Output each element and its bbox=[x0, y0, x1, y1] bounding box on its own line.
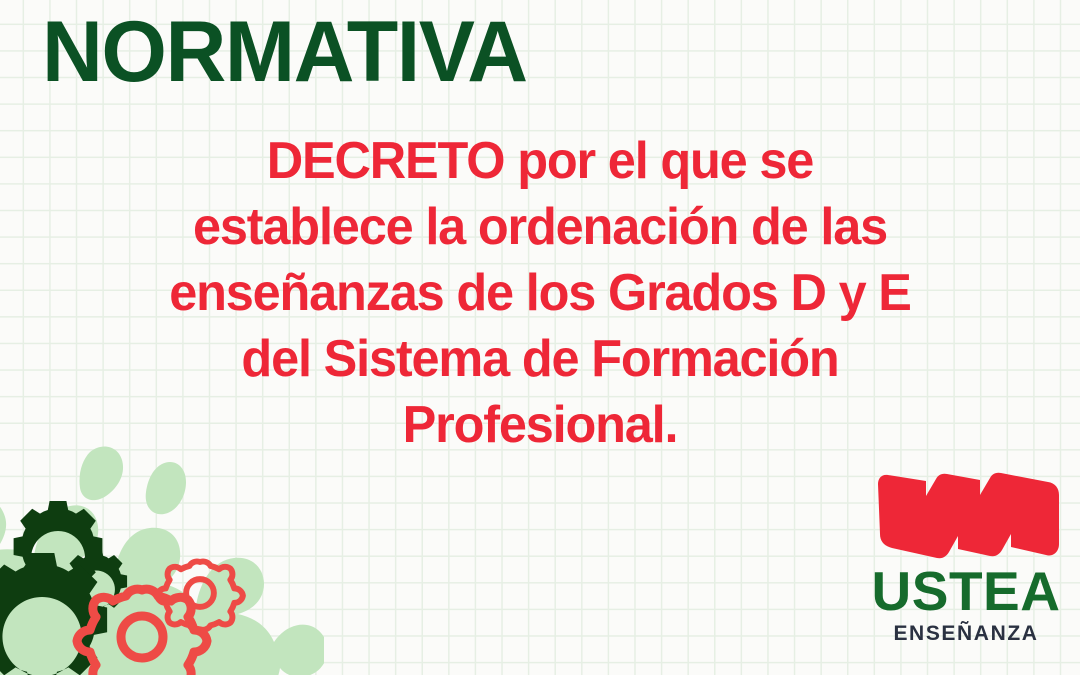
page-title: NORMATIVA bbox=[42, 2, 527, 102]
lightning-flag-icon bbox=[868, 470, 1064, 562]
body-line-3: enseñanzas de los Grados D y E bbox=[16, 260, 1064, 326]
body-line-1: DECRETO por el que se bbox=[16, 128, 1064, 194]
body-line-4: del Sistema de Formación bbox=[16, 326, 1064, 392]
ustea-logo: USTEA ENSEÑANZA bbox=[868, 470, 1064, 650]
body-line-2: establece la ordenación de las bbox=[16, 194, 1064, 260]
ustea-wordmark: USTEA bbox=[868, 562, 1064, 620]
poster-canvas: NORMATIVA DECRETO por el que se establec… bbox=[0, 0, 1080, 675]
decoration-cluster bbox=[0, 438, 324, 675]
gear-group-icon bbox=[0, 438, 324, 675]
announcement-body: DECRETO por el que se establece la orden… bbox=[0, 128, 1080, 458]
ustea-subtitle: ENSEÑANZA bbox=[868, 622, 1064, 646]
